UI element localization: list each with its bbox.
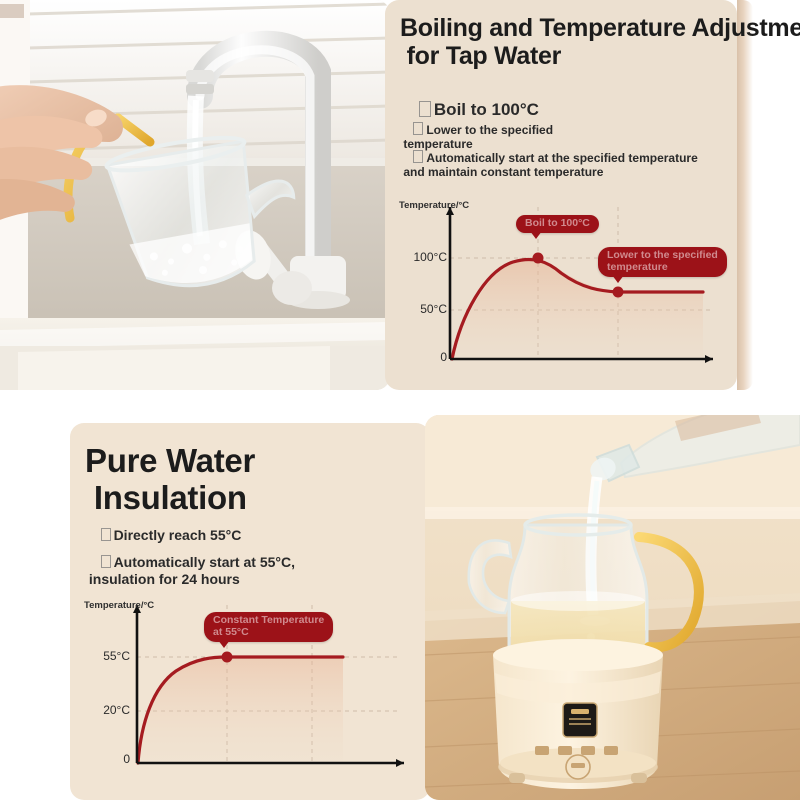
bottom-chart-y-axis-label: Temperature/°C [84, 600, 154, 611]
top-bullet-2: Automatically start at the specified tem… [400, 135, 698, 195]
top-chart-ytick-100: 100°C [391, 250, 447, 264]
badge-boil-to-100: Boil to 100°C [516, 215, 599, 233]
photo-kettle-insulation [425, 415, 800, 800]
kettle-base [493, 639, 663, 789]
photo-tap-illustration [0, 0, 390, 390]
badge-constant-temperature: Constant Temperature at 55°C [204, 612, 333, 642]
top-chart-y-axis-label: Temperature/°C [399, 200, 469, 211]
top-bullet-2-label: Automatically start at the specified tem… [400, 151, 698, 180]
bullet-box-icon [101, 555, 111, 568]
bullet-box-icon [413, 122, 423, 135]
bottom-bullet-2-label: Automatically start at 55°C, insulation … [85, 554, 295, 587]
chart-boiling-curve: Temperature/°C 100°C 50°C 0 [395, 195, 725, 380]
top-section-title: Boiling and Temperature Adjustment for T… [400, 14, 800, 70]
photo-tap-water-filling [0, 0, 390, 390]
bottom-chart-ytick-0: 0 [74, 752, 130, 766]
badge-lower-to-specified: Lower to the specified temperature [598, 247, 727, 277]
marker-constant-temp [222, 652, 233, 663]
marker-boil-point [533, 253, 544, 264]
top-chart-ytick-50: 50°C [391, 302, 447, 316]
bottom-chart-ytick-55: 55°C [74, 649, 130, 663]
bullet-box-icon [413, 150, 423, 163]
infographic-page: Boiling and Temperature Adjustment for T… [0, 0, 800, 800]
bottom-chart-ytick-20: 20°C [74, 703, 130, 717]
bottom-section-title: Pure Water Insulation [85, 443, 255, 517]
chart-insulation-curve: Temperature/°C 55°C 20°C 0 [80, 595, 410, 780]
marker-specified-temp [613, 287, 624, 298]
photo-kettle-illustration [425, 415, 800, 800]
top-chart-ytick-0: 0 [391, 350, 447, 364]
